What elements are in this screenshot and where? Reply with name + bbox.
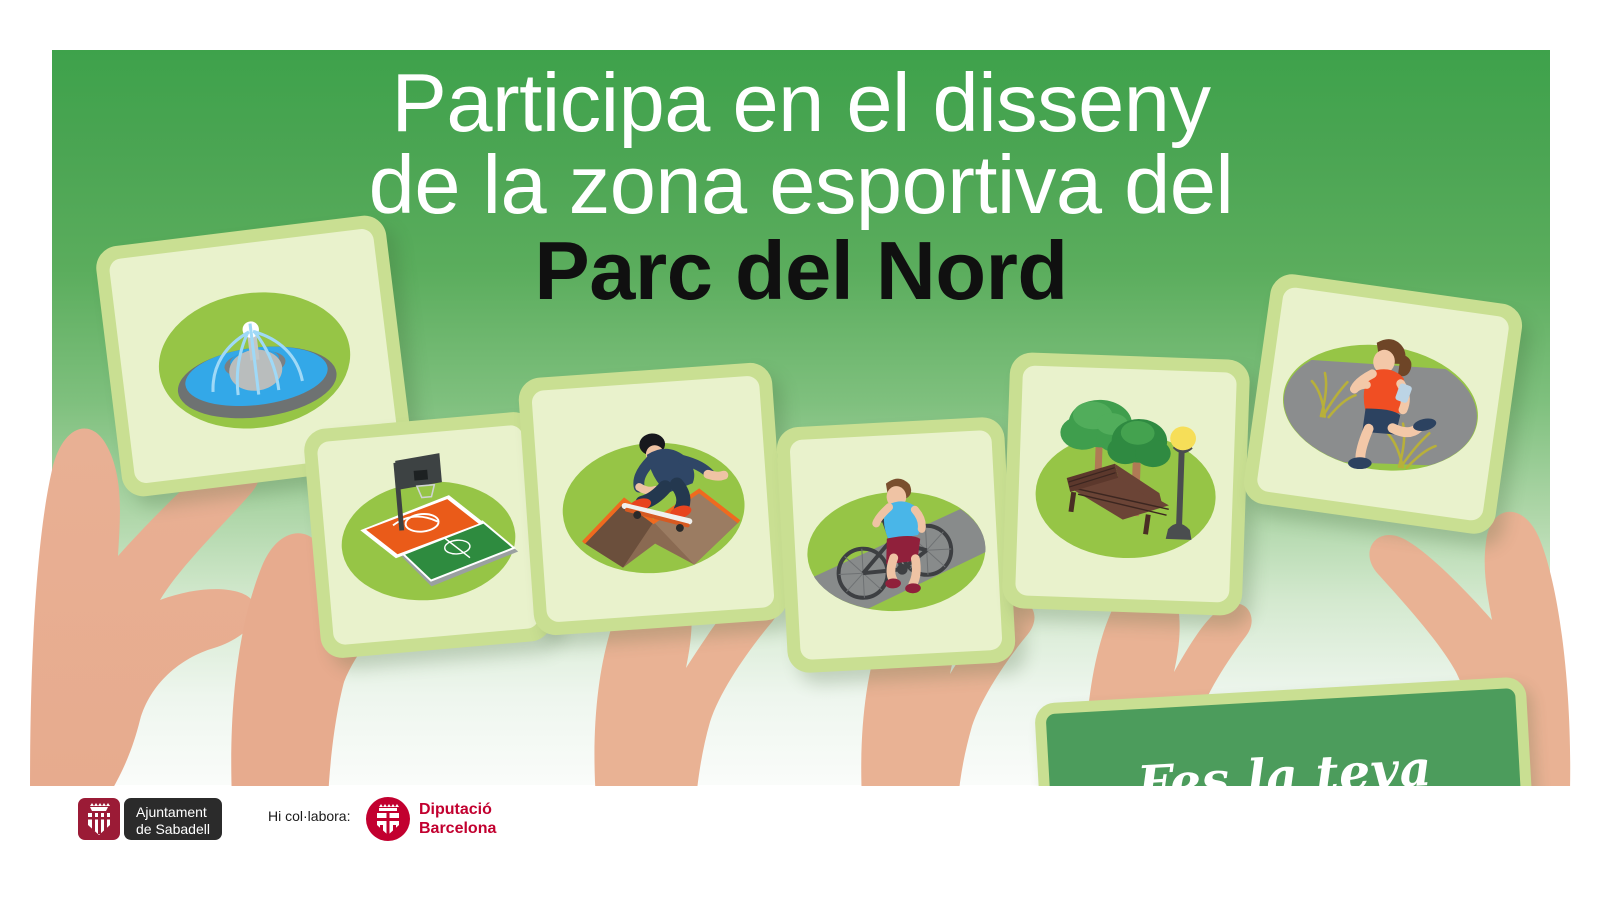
diputacio-emblem-icon bbox=[366, 797, 410, 841]
card-face bbox=[789, 430, 1002, 660]
diputacio-barcelona-logo[interactable]: Diputació Barcelona bbox=[366, 797, 496, 841]
ajuntament-line-2: de Sabadell bbox=[136, 821, 210, 838]
cyclist-illustration bbox=[789, 430, 1002, 660]
ajuntament-line-1: Ajuntament bbox=[136, 804, 210, 821]
card-face bbox=[1015, 365, 1237, 602]
diputacio-line-2: Barcelona bbox=[419, 819, 496, 838]
footer-bar: Ajuntament de Sabadell Hi col·labora: bbox=[0, 786, 1600, 900]
sabadell-shield-icon bbox=[78, 798, 120, 840]
skate-ramp-illustration bbox=[531, 375, 775, 622]
ajuntament-sabadell-logo[interactable]: Ajuntament de Sabadell bbox=[78, 798, 222, 840]
card-courts[interactable] bbox=[302, 410, 553, 659]
card-face bbox=[317, 424, 540, 645]
ajuntament-label-box: Ajuntament de Sabadell bbox=[124, 798, 222, 840]
card-bench[interactable] bbox=[1002, 352, 1251, 616]
card-bike[interactable] bbox=[776, 416, 1017, 674]
card-face bbox=[1256, 286, 1510, 522]
sports-courts-illustration bbox=[317, 424, 540, 645]
diputacio-line-1: Diputació bbox=[419, 800, 496, 819]
collaborator-label: Hi col·labora: bbox=[268, 808, 350, 824]
runner-illustration bbox=[1256, 286, 1510, 522]
poster-canvas: Participa en el disseny de la zona espor… bbox=[0, 0, 1600, 900]
bench-trees-lamp-illustration bbox=[1015, 365, 1237, 602]
card-skate[interactable] bbox=[517, 361, 788, 636]
card-face bbox=[531, 375, 775, 622]
card-runner[interactable] bbox=[1241, 271, 1525, 536]
diputacio-label: Diputació Barcelona bbox=[419, 800, 496, 838]
